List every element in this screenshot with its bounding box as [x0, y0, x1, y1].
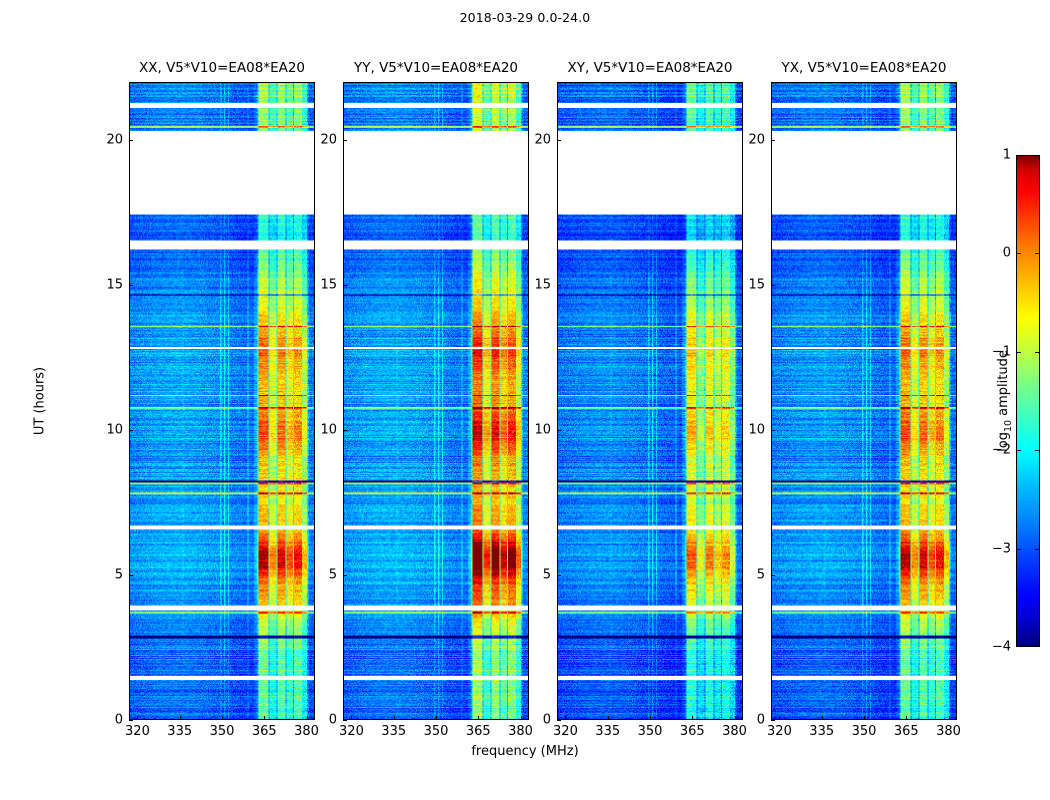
x-tick-label: 320 [767, 724, 792, 739]
y-tick-label: 20 [95, 133, 123, 148]
y-tick-mark [557, 140, 561, 141]
y-tick-label: 10 [95, 423, 123, 438]
x-tick-mark [608, 716, 609, 720]
x-tick-mark [779, 716, 780, 720]
y-tick-label: 5 [309, 568, 337, 583]
colorbar-label-prefix: log [996, 432, 1011, 452]
figure-suptitle: 2018-03-29 0.0-24.0 [0, 10, 1050, 25]
x-tick-mark [692, 716, 693, 720]
colorbar-tick-mark [1016, 549, 1021, 550]
panel-title-yx: YX, V5*V10=EA08*EA20 [781, 60, 946, 76]
y-tick-mark [557, 575, 561, 576]
x-tick-mark [822, 716, 823, 720]
colorbar-tick-label: −3 [992, 541, 1011, 556]
x-tick-label: 320 [553, 724, 578, 739]
x-tick-mark [180, 716, 181, 720]
x-tick-label: 320 [339, 724, 364, 739]
colorbar-label-sub: 10 [1003, 420, 1014, 432]
colorbar-tick-mark [1016, 352, 1021, 353]
x-tick-mark [137, 716, 138, 720]
axes-yy[interactable] [343, 82, 529, 720]
y-tick-mark [129, 575, 133, 576]
x-tick-label: 335 [595, 724, 620, 739]
colorbar-label-suffix: amplitude [996, 350, 1011, 420]
colorbar[interactable]: −4−3−2−101 [1016, 155, 1040, 647]
colorbar-tick-mark [1035, 253, 1040, 254]
panel-yx[interactable]: YX, V5*V10=EA08*EA20 [771, 82, 957, 720]
x-tick-mark [307, 716, 308, 720]
colorbar-tick-mark [1016, 450, 1021, 451]
panel-yy[interactable]: YY, V5*V10=EA08*EA20 [343, 82, 529, 720]
y-tick-label: 10 [737, 423, 765, 438]
x-tick-label: 350 [210, 724, 235, 739]
x-tick-mark [565, 716, 566, 720]
colorbar-tick-mark [1035, 549, 1040, 550]
y-tick-label: 15 [737, 278, 765, 293]
y-tick-mark [343, 140, 347, 141]
x-tick-label: 335 [809, 724, 834, 739]
heatmap-canvas-xy [558, 83, 742, 719]
colorbar-tick-mark [1035, 352, 1040, 353]
panel-xy[interactable]: XY, V5*V10=EA08*EA20 [557, 82, 743, 720]
y-tick-mark [343, 285, 347, 286]
y-tick-label: 20 [523, 133, 551, 148]
x-tick-label: 335 [167, 724, 192, 739]
x-tick-label: 350 [424, 724, 449, 739]
x-tick-label: 365 [252, 724, 277, 739]
x-tick-mark [351, 716, 352, 720]
x-tick-label: 365 [680, 724, 705, 739]
y-tick-label: 0 [95, 713, 123, 728]
heatmap-canvas-xx [130, 83, 314, 719]
x-tick-mark [436, 716, 437, 720]
y-tick-mark [771, 285, 775, 286]
x-tick-label: 335 [381, 724, 406, 739]
y-tick-mark [771, 140, 775, 141]
x-tick-mark [906, 716, 907, 720]
x-tick-label: 350 [852, 724, 877, 739]
colorbar-tick-label: −4 [992, 640, 1011, 655]
y-tick-label: 0 [523, 713, 551, 728]
y-tick-mark [557, 430, 561, 431]
y-tick-mark [129, 720, 133, 721]
panel-xx[interactable]: XX, V5*V10=EA08*EA20 [129, 82, 315, 720]
x-axis-label: frequency (MHz) [0, 744, 1050, 759]
y-axis-label: UT (hours) [33, 367, 48, 435]
x-tick-mark [394, 716, 395, 720]
x-tick-mark [521, 716, 522, 720]
y-tick-mark [771, 575, 775, 576]
y-tick-label: 5 [737, 568, 765, 583]
x-tick-mark [222, 716, 223, 720]
x-tick-mark [478, 716, 479, 720]
x-tick-label: 365 [466, 724, 491, 739]
x-tick-mark [650, 716, 651, 720]
y-tick-label: 5 [523, 568, 551, 583]
y-tick-label: 15 [523, 278, 551, 293]
y-tick-mark [129, 140, 133, 141]
y-tick-mark [129, 285, 133, 286]
y-tick-label: 20 [737, 133, 765, 148]
y-tick-label: 0 [309, 713, 337, 728]
waterfall-figure: 2018-03-29 0.0-24.0 XX, V5*V10=EA08*EA20… [0, 0, 1050, 800]
y-tick-label: 5 [95, 568, 123, 583]
colorbar-tick-label: 1 [1003, 148, 1011, 163]
x-tick-mark [735, 716, 736, 720]
y-tick-label: 15 [95, 278, 123, 293]
x-tick-mark [949, 716, 950, 720]
y-tick-mark [557, 720, 561, 721]
panel-title-xy: XY, V5*V10=EA08*EA20 [567, 60, 732, 76]
colorbar-tick-label: 0 [1003, 246, 1011, 261]
heatmap-canvas-yx [772, 83, 956, 719]
colorbar-tick-mark [1016, 253, 1021, 254]
y-tick-label: 15 [309, 278, 337, 293]
y-tick-label: 0 [737, 713, 765, 728]
y-tick-mark [557, 285, 561, 286]
y-tick-mark [771, 720, 775, 721]
y-tick-mark [129, 430, 133, 431]
y-tick-label: 10 [523, 423, 551, 438]
y-tick-mark [771, 430, 775, 431]
y-tick-label: 20 [309, 133, 337, 148]
heatmap-canvas-yy [344, 83, 528, 719]
x-tick-mark [864, 716, 865, 720]
y-tick-mark [343, 430, 347, 431]
axes-yx[interactable] [771, 82, 957, 720]
x-tick-label: 380 [936, 724, 961, 739]
y-tick-mark [343, 720, 347, 721]
axes-xy[interactable] [557, 82, 743, 720]
axes-xx[interactable] [129, 82, 315, 720]
x-tick-label: 320 [125, 724, 150, 739]
x-tick-label: 365 [894, 724, 919, 739]
y-tick-mark [343, 575, 347, 576]
y-tick-label: 10 [309, 423, 337, 438]
colorbar-label: log10 amplitude [996, 350, 1014, 452]
x-tick-mark [264, 716, 265, 720]
panel-title-xx: XX, V5*V10=EA08*EA20 [139, 60, 305, 76]
panel-title-yy: YY, V5*V10=EA08*EA20 [354, 60, 518, 76]
colorbar-gradient [1016, 155, 1040, 647]
x-tick-label: 350 [638, 724, 663, 739]
colorbar-tick-mark [1035, 450, 1040, 451]
